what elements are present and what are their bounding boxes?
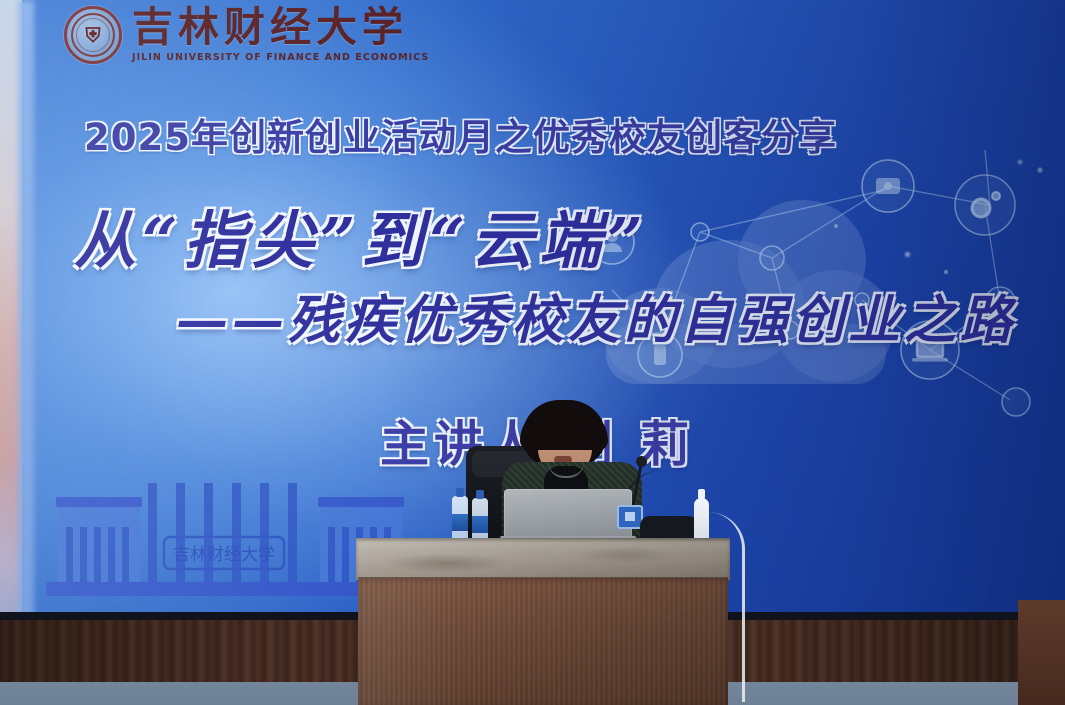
white-bottle [694,498,709,540]
laptop [500,489,636,541]
water-bottle-1 [452,496,468,544]
screenshot-root: ⛨ 吉林财经大学 JILIN UNIVERSITY OF FINANCE AND… [0,0,1065,705]
university-logo: ⛨ 吉林财经大学 JILIN UNIVERSITY OF FINANCE AND… [64,6,429,64]
building-sign-text: 吉林财经大学 [173,545,275,565]
banner-headline-2: ——残疾优秀校友的自强创业之路 [176,278,1026,353]
spark-dot [905,252,910,257]
university-seal-icon: ⛨ [64,6,122,64]
microphone-icon [636,456,647,467]
dark-bag [640,516,702,540]
spark-dot [1018,160,1022,164]
right-wood-pillar [1018,600,1065,705]
banner-headline-1: 从“指尖”到“云端” [74,190,694,280]
left-wall-blur [18,0,34,640]
podium [356,538,730,705]
podium-top-surface [356,538,730,580]
logo-name-en: JILIN UNIVERSITY OF FINANCE AND ECONOMIC… [132,53,429,63]
podium-front-panel [358,578,728,705]
banner-kicker: 2025年创新创业活动月之优秀校友创客分享 [84,107,944,161]
logo-name-cn: 吉林财经大学 [132,7,429,48]
